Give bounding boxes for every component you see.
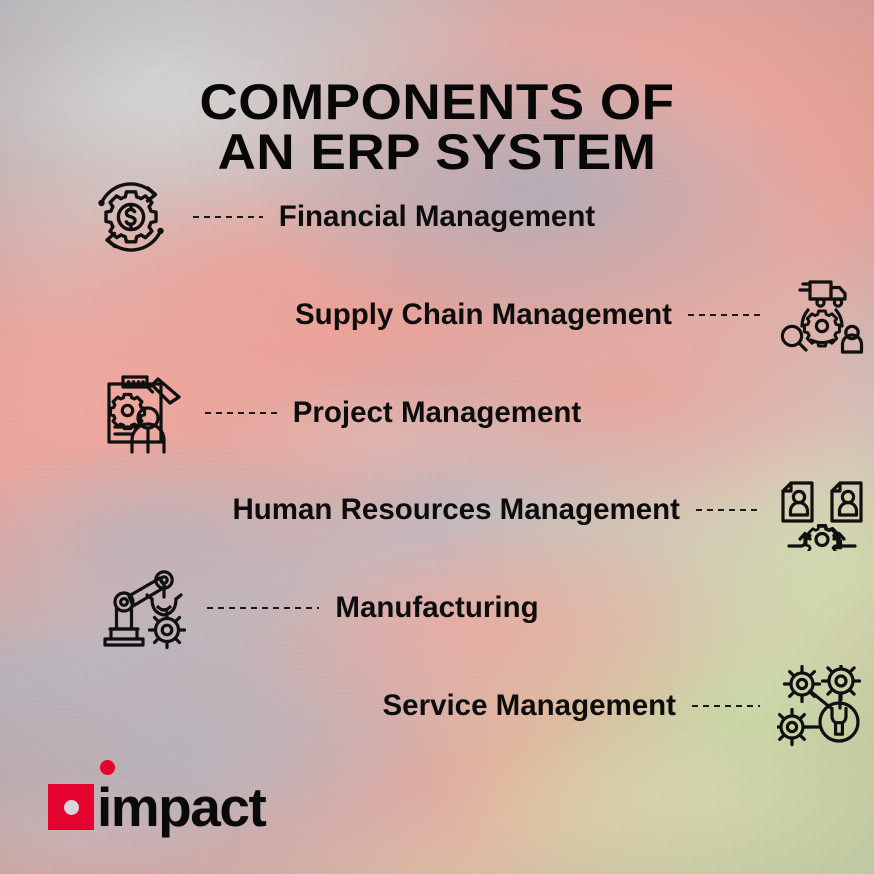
connector-line-project-management (205, 412, 277, 414)
person-documents-gear-icon (770, 466, 874, 554)
component-label-financial-management: Financial Management (279, 200, 595, 234)
connector-line-service-management (692, 705, 760, 707)
component-row-supply-chain-management: Supply Chain Management (0, 269, 874, 361)
truck-gear-network-icon (770, 271, 874, 359)
impact-wordmark: impact (97, 784, 265, 830)
gear-dollar-cycle-icon (79, 173, 183, 261)
impact-square-mark (48, 784, 94, 830)
connector-line-manufacturing (207, 607, 319, 609)
component-label-service-management: Service Management (383, 689, 677, 723)
component-row-project-management: Project Management (0, 367, 874, 459)
connector-line-supply-chain-management (688, 314, 760, 316)
robot-arm-gear-icon (93, 564, 197, 652)
poster-content: COMPONENTS OF AN ERP SYSTEM Financ (0, 0, 874, 874)
infographic-poster: COMPONENTS OF AN ERP SYSTEM Financ (0, 0, 874, 874)
page-title: COMPONENTS OF AN ERP SYSTEM (0, 77, 874, 177)
clipboard-gear-person-icon (91, 369, 195, 457)
component-row-manufacturing: Manufacturing (0, 562, 874, 654)
component-label-supply-chain-management: Supply Chain Management (295, 298, 672, 332)
connector-line-human-resources-management (696, 509, 760, 511)
component-row-financial-management: Financial Management (0, 171, 874, 263)
impact-mark-dot (64, 800, 79, 815)
component-row-human-resources-management: Human Resources Management (0, 464, 874, 556)
component-label-project-management: Project Management (293, 396, 582, 430)
impact-i-dot (100, 760, 115, 775)
connector-line-financial-management (193, 216, 263, 218)
gears-wrench-icon (770, 662, 874, 750)
component-label-manufacturing: Manufacturing (335, 591, 538, 625)
component-label-human-resources-management: Human Resources Management (232, 493, 680, 527)
component-row-service-management: Service Management (0, 660, 874, 752)
impact-logo[interactable]: impact (48, 772, 265, 830)
